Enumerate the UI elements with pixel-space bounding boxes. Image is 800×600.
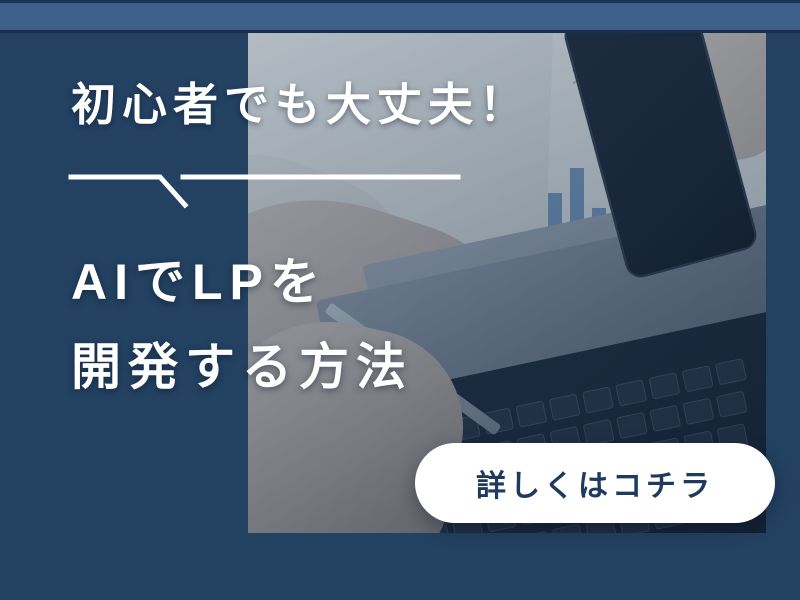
headline-line-1: AIでLPを xyxy=(71,240,413,325)
angled-underline-decoration xyxy=(60,160,480,215)
promo-banner: 初心者でも大丈夫！ AIでLPを 開発する方法 詳しくはコチラ xyxy=(0,0,800,600)
headline-line-2: 開発する方法 xyxy=(71,325,413,410)
eyebrow-text: 初心者でも大丈夫！ xyxy=(71,82,530,127)
page-title: AIでLPを 開発する方法 xyxy=(71,240,413,410)
cta-button[interactable]: 詳しくはコチラ xyxy=(415,443,775,523)
cta-button-label: 詳しくはコチラ xyxy=(476,461,714,505)
banner-content: 初心者でも大丈夫！ AIでLPを 開発する方法 詳しくはコチラ xyxy=(0,0,800,600)
